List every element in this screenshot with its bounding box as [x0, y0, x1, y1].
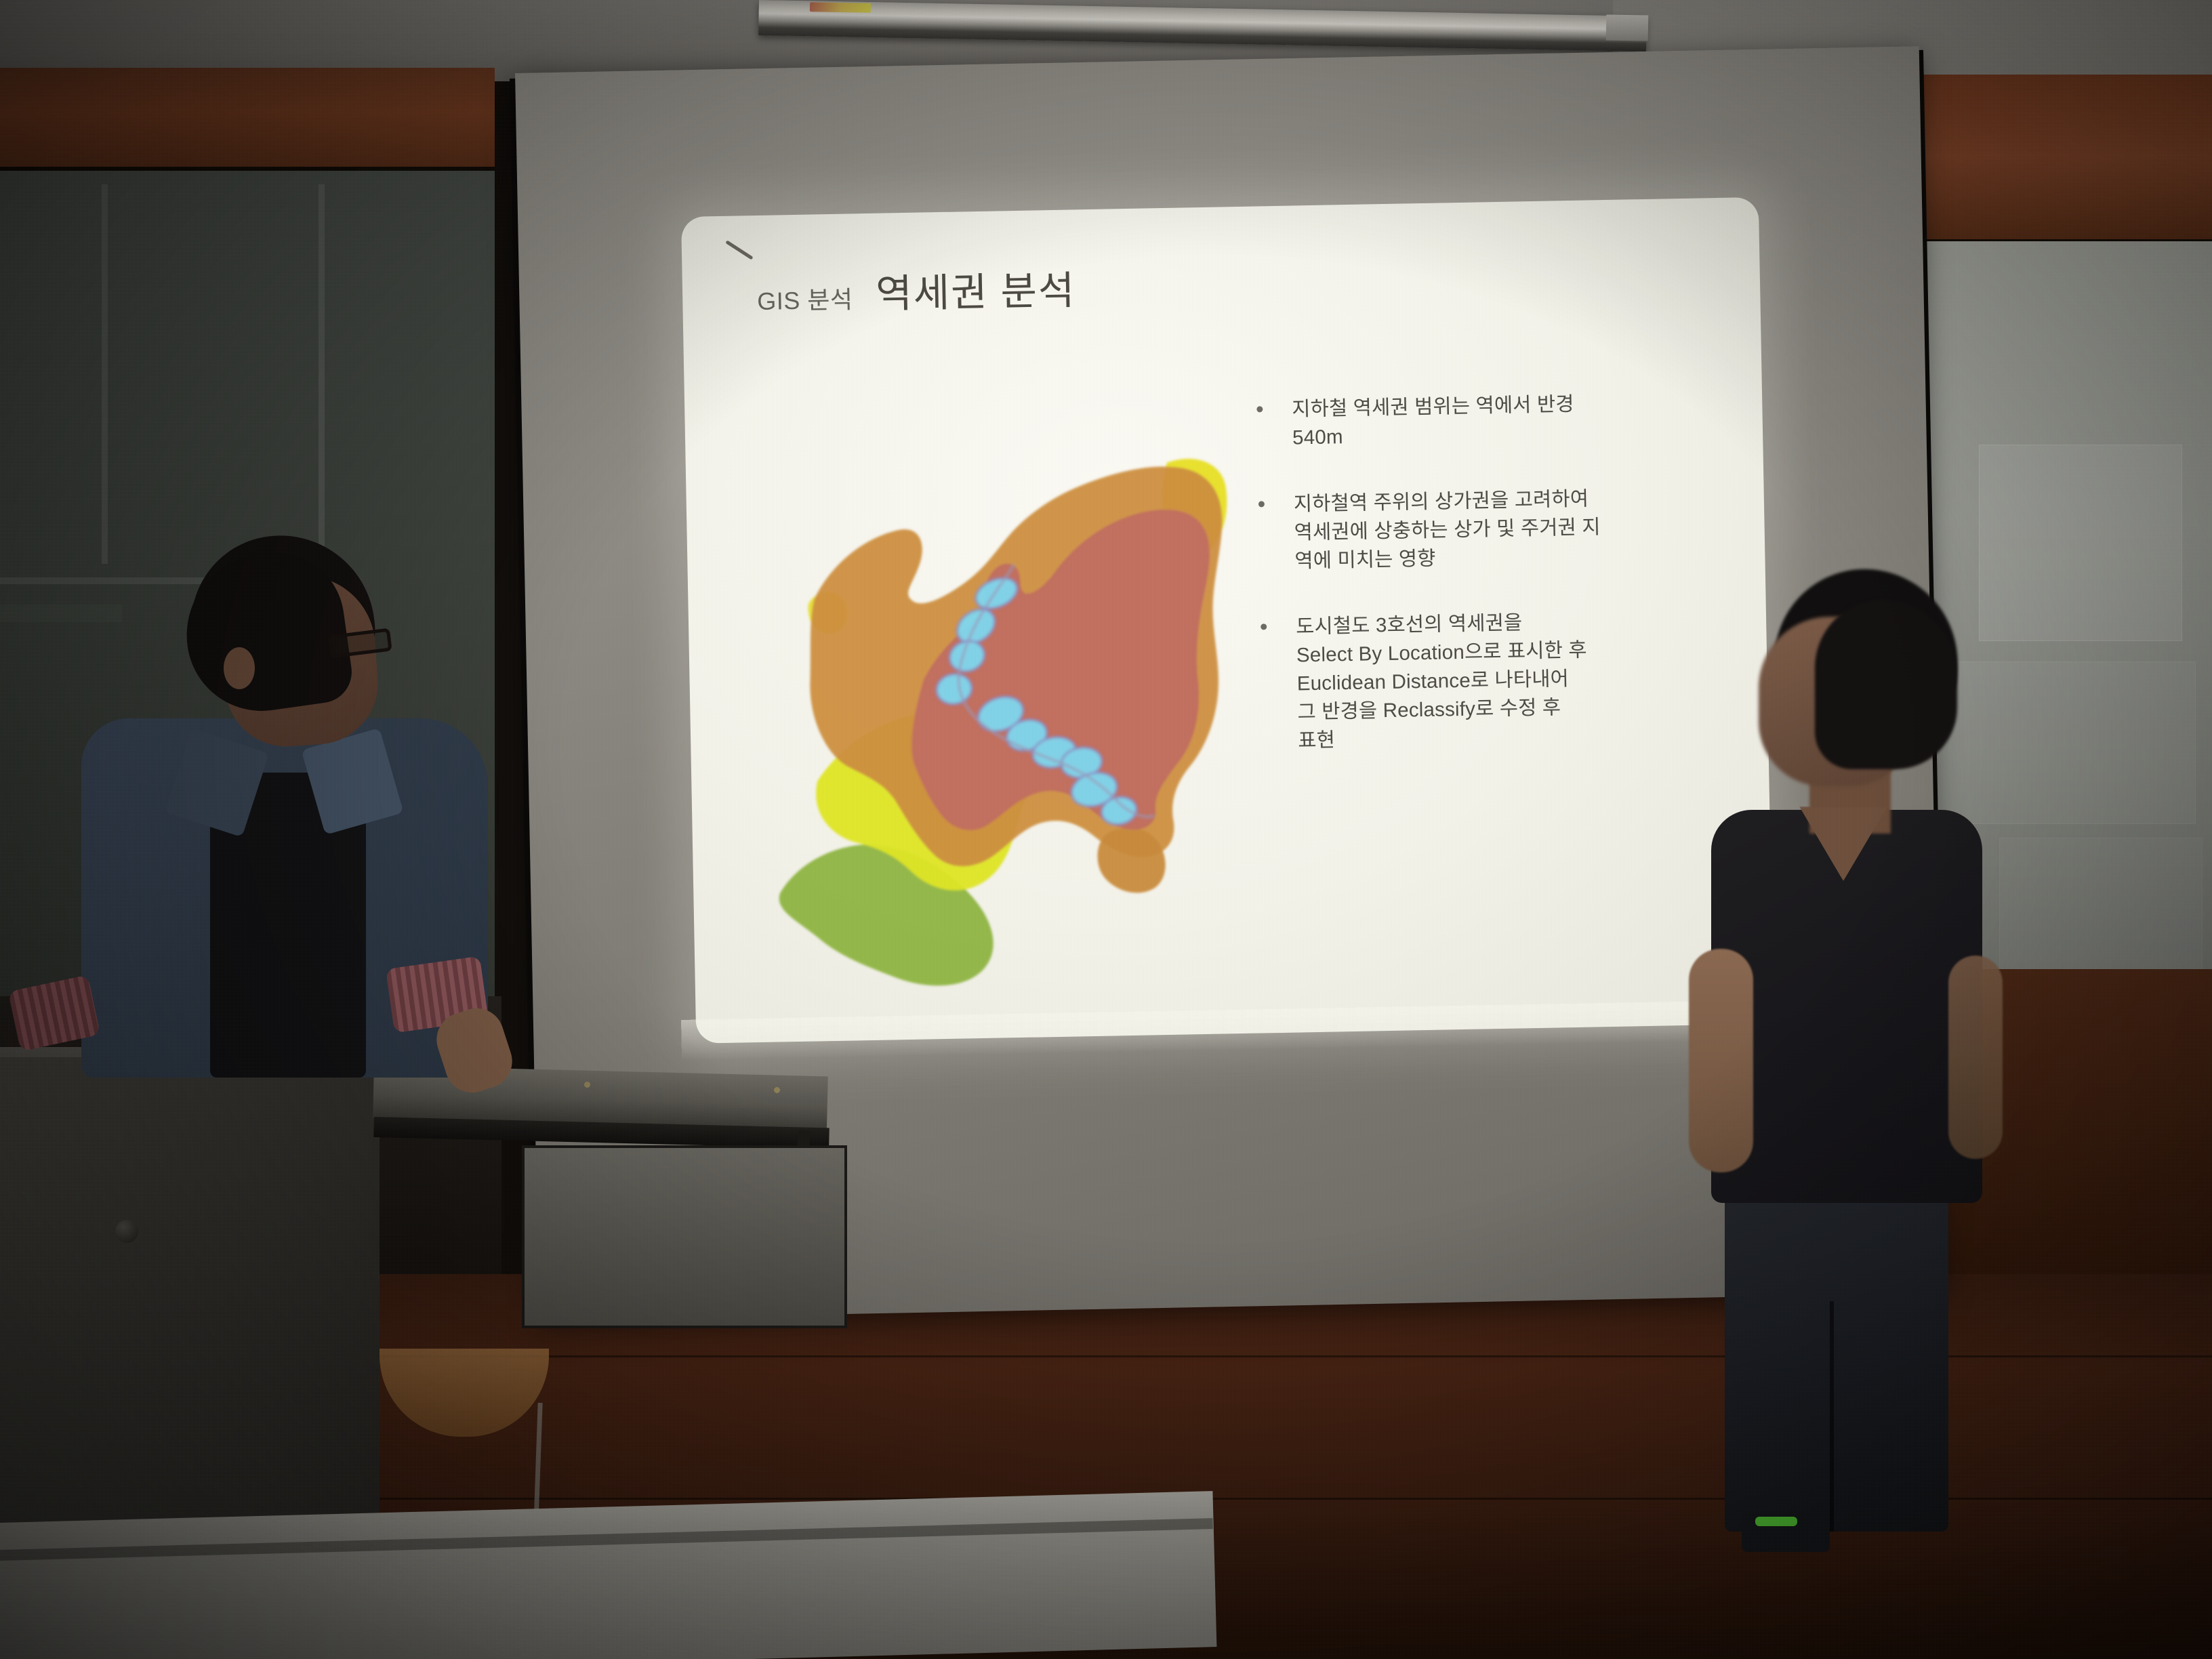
shoe-green-accent	[1755, 1517, 1797, 1526]
roller-end-cap	[1606, 14, 1649, 41]
bullet-item-2: 지하철역 주위의 상가권을 고려하여 역세권에 상충하는 상가 및 주거권 지 …	[1249, 483, 1725, 576]
wood-panel-upper-right	[1894, 75, 2212, 243]
roller-color-sticker	[810, 2, 871, 13]
podium-knob	[115, 1220, 138, 1243]
presenter-right-legs	[1725, 1179, 1948, 1532]
presenter-right-arm	[1689, 949, 1753, 1172]
presenter-left	[20, 535, 522, 1078]
bullet-dot-icon	[1261, 624, 1267, 630]
bullet-dot-icon	[1256, 406, 1263, 412]
slide-title-main: 역세권 분석	[876, 258, 1076, 319]
bullet-dot-icon	[1258, 501, 1265, 507]
presentation-room-photo: GIS 분석 역세권 분석	[0, 0, 2212, 1659]
presentation-slide: GIS 분석 역세권 분석	[681, 197, 1774, 1044]
presenter-left-ear	[224, 647, 255, 689]
shelf-screw-icon	[584, 1082, 590, 1088]
wood-panel-upper-left	[0, 68, 495, 171]
podium-front-panel	[522, 1145, 847, 1328]
presenter-right-hair-side	[1815, 600, 1957, 769]
bullet-item-1: 지하철 역세권 범위는 역에서 반경 540m	[1247, 388, 1722, 453]
podium-body	[0, 1057, 380, 1525]
gis-map-figure	[745, 410, 1244, 1002]
slide-title-row: GIS 분석 역세권 분석	[756, 258, 1076, 321]
presenter-right-leg-split	[1830, 1301, 1834, 1532]
title-slash-mark	[725, 240, 753, 260]
shelf-screw-icon	[774, 1087, 780, 1093]
presenter-right-arm	[1948, 956, 2003, 1159]
slide-title-kicker: GIS 분석	[757, 280, 853, 317]
presenter-right	[1640, 569, 2020, 1572]
gis-raster-map	[745, 410, 1244, 1002]
